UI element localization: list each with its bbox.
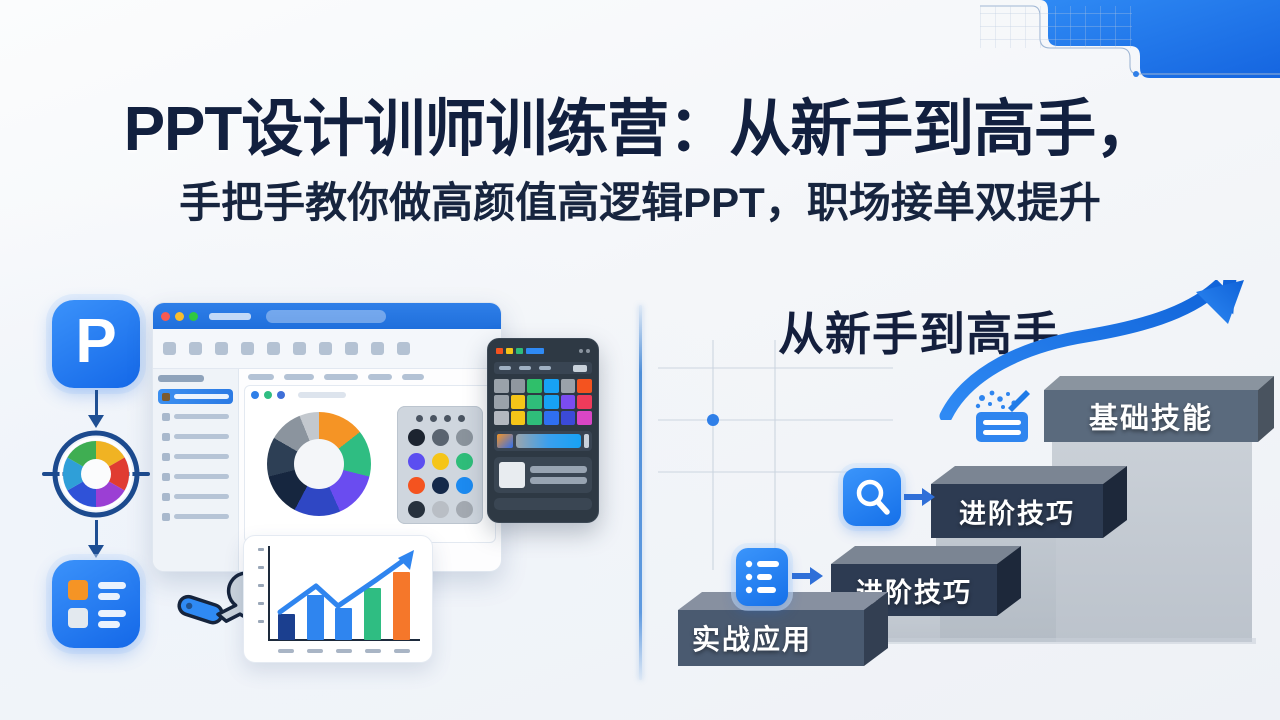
- gradient-preview: [497, 434, 513, 448]
- corner-grid-icon: [980, 0, 1280, 78]
- x-label: [307, 649, 323, 653]
- dark-panel-footer: [494, 498, 592, 510]
- step-basic-skills[interactable]: 基础技能: [1044, 376, 1274, 446]
- ribbon-icon-5[interactable]: [267, 342, 280, 355]
- ribbon-icon-3[interactable]: [215, 342, 228, 355]
- ribbon-icon-4[interactable]: [241, 342, 254, 355]
- color-palette-panel[interactable]: [397, 406, 483, 524]
- app-titlebar: [153, 303, 501, 329]
- layout-bar-1: [98, 582, 126, 589]
- palette-dot[interactable]: [408, 477, 425, 494]
- icon-flow-column: P: [52, 300, 148, 648]
- powerpoint-icon-letter: P: [75, 311, 116, 373]
- x-label: [336, 649, 352, 653]
- dp-seg-blue: [526, 348, 544, 354]
- corner-decoration: [980, 0, 1280, 78]
- slide-tool-2[interactable]: [264, 391, 272, 399]
- x-label: [394, 649, 410, 653]
- palette-dot[interactable]: [416, 415, 423, 422]
- palette-dot[interactable]: [408, 501, 425, 518]
- preview-line: [530, 477, 587, 484]
- sidebar-header: [158, 375, 204, 382]
- palette-dot[interactable]: [456, 477, 473, 494]
- dp-swatch[interactable]: [494, 395, 509, 409]
- sidebar-item[interactable]: [158, 469, 233, 484]
- step-1-label: 实战应用: [692, 610, 864, 666]
- list-lines-svg: [736, 548, 788, 606]
- app-sidebar: [153, 369, 239, 572]
- layout-bar-4: [98, 621, 120, 628]
- sidebar-item-active[interactable]: [158, 389, 233, 404]
- sidebar-item[interactable]: [158, 489, 233, 504]
- dp-swatch[interactable]: [561, 379, 576, 393]
- palette-dot[interactable]: [458, 415, 465, 422]
- palette-dot[interactable]: [408, 453, 425, 470]
- bar-chart-card: [243, 535, 433, 663]
- sidebar-item-icon: [162, 473, 170, 481]
- preview-line: [530, 466, 587, 473]
- ribbon-icon-7[interactable]: [319, 342, 332, 355]
- tab-5[interactable]: [402, 374, 424, 380]
- app-search-field[interactable]: [266, 310, 386, 323]
- slide-tool-3[interactable]: [277, 391, 285, 399]
- dp-swatch[interactable]: [561, 411, 576, 425]
- flow-arrow-1-icon: [52, 388, 140, 430]
- dark-panel-titlebar: [494, 345, 592, 357]
- connector-arrow-1-icon: [792, 565, 824, 589]
- app-ribbon-toolbar[interactable]: [153, 329, 501, 369]
- layout-swatch-gray: [68, 608, 88, 628]
- sidebar-item[interactable]: [158, 409, 233, 424]
- dp-swatch[interactable]: [561, 395, 576, 409]
- dp-swatch[interactable]: [527, 379, 542, 393]
- palette-dot[interactable]: [444, 415, 451, 422]
- palette-dot[interactable]: [430, 415, 437, 422]
- sidebar-item-icon: [162, 393, 170, 401]
- poster-canvas: PPT设计训师训练营：从新手到高手， 手把手教你做高颜值高逻辑PPT，职场接单双…: [0, 0, 1280, 720]
- dp-swatch[interactable]: [494, 379, 509, 393]
- slide-tool-1[interactable]: [251, 391, 259, 399]
- dp-seg-yellow: [506, 348, 513, 354]
- sidebar-item-icon: [162, 433, 170, 441]
- dp-swatch[interactable]: [511, 379, 526, 393]
- palette-dot[interactable]: [456, 453, 473, 470]
- close-icon[interactable]: [161, 312, 170, 321]
- tab-1[interactable]: [248, 374, 274, 380]
- dp-swatch[interactable]: [494, 411, 509, 425]
- dark-panel-preview-section: [494, 457, 592, 493]
- layout-bar-3: [98, 610, 126, 617]
- ribbon-icon-2[interactable]: [189, 342, 202, 355]
- step-4-label: 基础技能: [1044, 390, 1258, 442]
- palette-dot[interactable]: [408, 429, 425, 446]
- dp-tool-label: [499, 366, 511, 370]
- layout-swatch-orange: [68, 580, 88, 600]
- palette-dot[interactable]: [432, 453, 449, 470]
- app-window-mockup: [152, 302, 502, 572]
- sidebar-item-label: [174, 514, 229, 519]
- powerpoint-icon: P: [52, 300, 140, 388]
- checklist-pen-svg: [970, 388, 1040, 448]
- donut-chart: [267, 412, 371, 516]
- flow-arrow-2-icon: [52, 518, 140, 560]
- palette-dot[interactable]: [432, 429, 449, 446]
- palette-row-4: [404, 501, 476, 518]
- sidebar-item-label: [174, 454, 229, 459]
- gradient-slider[interactable]: [494, 431, 592, 451]
- palette-row-1: [404, 429, 476, 446]
- dark-panel-swatch-grid[interactable]: [494, 379, 592, 425]
- search-icon[interactable]: [843, 468, 901, 526]
- palette-row-3: [404, 477, 476, 494]
- bar-chart-plot: [258, 546, 422, 654]
- ribbon-icon-8[interactable]: [345, 342, 358, 355]
- sidebar-item-label: [174, 494, 229, 499]
- tab-2[interactable]: [284, 374, 314, 380]
- palette-dot[interactable]: [456, 501, 473, 518]
- sidebar-item-label: [174, 414, 229, 419]
- connector-arrow-2-icon: [904, 486, 936, 510]
- left-illustration-panel: P: [0, 280, 640, 700]
- slide-layout-icon: [52, 560, 140, 648]
- search-glass-svg: [843, 468, 901, 526]
- sidebar-item[interactable]: [158, 509, 233, 524]
- sidebar-item-label: [174, 474, 229, 479]
- list-icon[interactable]: [736, 548, 788, 606]
- sidebar-item-icon: [162, 513, 170, 521]
- tab-3[interactable]: [324, 374, 358, 380]
- gradient-handle[interactable]: [584, 434, 589, 448]
- gradient-bar[interactable]: [516, 434, 581, 448]
- dp-tool-label: [539, 366, 551, 370]
- step-3-label: 进阶技巧: [931, 484, 1103, 538]
- tab-4[interactable]: [368, 374, 392, 380]
- dp-swatch[interactable]: [527, 411, 542, 425]
- ribbon-icon-1[interactable]: [163, 342, 176, 355]
- dp-swatch[interactable]: [511, 395, 526, 409]
- color-wheel-icon: [52, 430, 140, 518]
- slide-tool-field[interactable]: [298, 392, 346, 398]
- dp-menu-dot[interactable]: [579, 349, 583, 353]
- dp-swatch[interactable]: [544, 395, 559, 409]
- dp-swatch[interactable]: [527, 395, 542, 409]
- dp-swatch[interactable]: [577, 411, 592, 425]
- bar-chart-labels: [272, 649, 416, 653]
- dp-swatch[interactable]: [544, 411, 559, 425]
- dark-panel-toolbar[interactable]: [494, 362, 592, 374]
- page-title: PPT设计训师训练营：从新手到高手，: [0, 92, 1280, 168]
- dp-swatch[interactable]: [511, 411, 526, 425]
- x-label: [278, 649, 294, 653]
- palette-row-2: [404, 453, 476, 470]
- trend-arrow-icon: [258, 544, 428, 650]
- sidebar-item[interactable]: [158, 429, 233, 444]
- layout-bar-2: [98, 593, 120, 600]
- palette-row-dots: [404, 415, 476, 422]
- dp-swatch[interactable]: [544, 379, 559, 393]
- minimize-icon[interactable]: [175, 312, 184, 321]
- preview-lines: [530, 462, 587, 488]
- slide-canvas: [244, 385, 496, 543]
- sidebar-item-icon: [162, 493, 170, 501]
- title-block: PPT设计训师训练营：从新手到高手， 手把手教你做高颜值高逻辑PPT，职场接单双…: [0, 92, 1280, 232]
- preview-thumbnail: [499, 462, 525, 488]
- dark-tool-panel[interactable]: [487, 338, 599, 523]
- slide-toolbar[interactable]: [245, 386, 495, 404]
- maximize-icon[interactable]: [189, 312, 198, 321]
- checklist-pen-icon: [970, 388, 1040, 448]
- dp-tool-toggle[interactable]: [573, 365, 587, 372]
- app-window-title: [209, 313, 251, 320]
- dp-seg-green: [516, 348, 523, 354]
- ribbon-icon-6[interactable]: [293, 342, 306, 355]
- x-label: [365, 649, 381, 653]
- step-advanced-upper[interactable]: 进阶技巧: [931, 466, 1127, 542]
- dp-tool-label: [519, 366, 531, 370]
- ribbon-icon-9[interactable]: [371, 342, 384, 355]
- app-tabbar[interactable]: [244, 374, 496, 385]
- dp-swatch[interactable]: [577, 395, 592, 409]
- ribbon-icon-10[interactable]: [397, 342, 410, 355]
- page-subtitle: 手把手教你做高颜值高逻辑PPT，职场接单双提升: [0, 174, 1280, 232]
- palette-dot[interactable]: [456, 429, 473, 446]
- sidebar-item-label: [174, 434, 229, 439]
- dp-seg-orange: [496, 348, 503, 354]
- dp-menu-dot[interactable]: [586, 349, 590, 353]
- sidebar-item-icon: [162, 413, 170, 421]
- sidebar-item[interactable]: [158, 449, 233, 464]
- palette-dot[interactable]: [432, 501, 449, 518]
- palette-dot[interactable]: [432, 477, 449, 494]
- right-illustration-panel: 从新手到高手: [648, 280, 1280, 700]
- sidebar-item-label: [174, 394, 229, 399]
- sidebar-item-icon: [162, 453, 170, 461]
- color-wheel-svg: [52, 430, 140, 518]
- dp-swatch[interactable]: [577, 379, 592, 393]
